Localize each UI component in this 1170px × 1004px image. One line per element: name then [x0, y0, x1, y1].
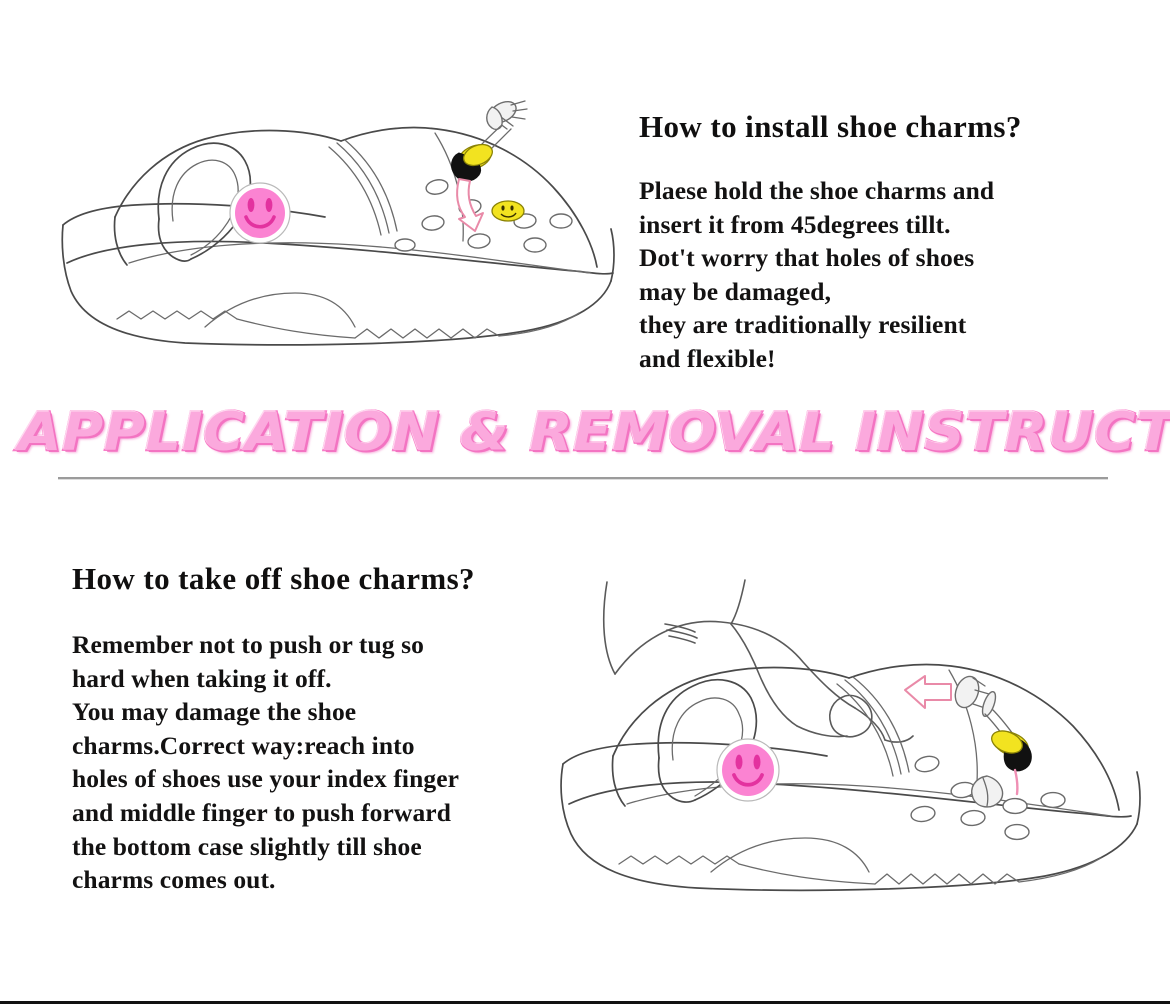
fingertip-pushing-through-hole [972, 776, 1003, 807]
pink-smiley-charm [717, 739, 779, 801]
removal-heading: How to take off shoe charms? [72, 561, 475, 597]
banner: APPLICATION & REMOVAL INSTRUCTIONS [0, 402, 1170, 470]
banner-title: APPLICATION & REMOVAL INSTRUCTIONS [18, 402, 1170, 464]
charm-removal-detail [905, 673, 1032, 794]
clog-upper [613, 665, 1120, 817]
clog-sole [561, 743, 1140, 891]
install-heading: How to install shoe charms? [639, 109, 1022, 145]
install-body: Plaese hold the shoe charms and insert i… [639, 174, 1099, 376]
section-divider [58, 477, 1108, 480]
instruction-sheet: How to install shoe charms? Plaese hold … [0, 0, 1170, 1004]
hand-reaching-into-shoe [604, 580, 913, 742]
removal-illustration [545, 578, 1160, 908]
pink-smiley-charm [230, 183, 290, 243]
yellow-smiley-charm [492, 201, 524, 221]
removal-body: Remember not to push or tug so hard when… [72, 628, 572, 897]
clog-upper [115, 128, 598, 274]
clog-vamp-holes [395, 178, 572, 252]
install-illustration [55, 95, 620, 350]
